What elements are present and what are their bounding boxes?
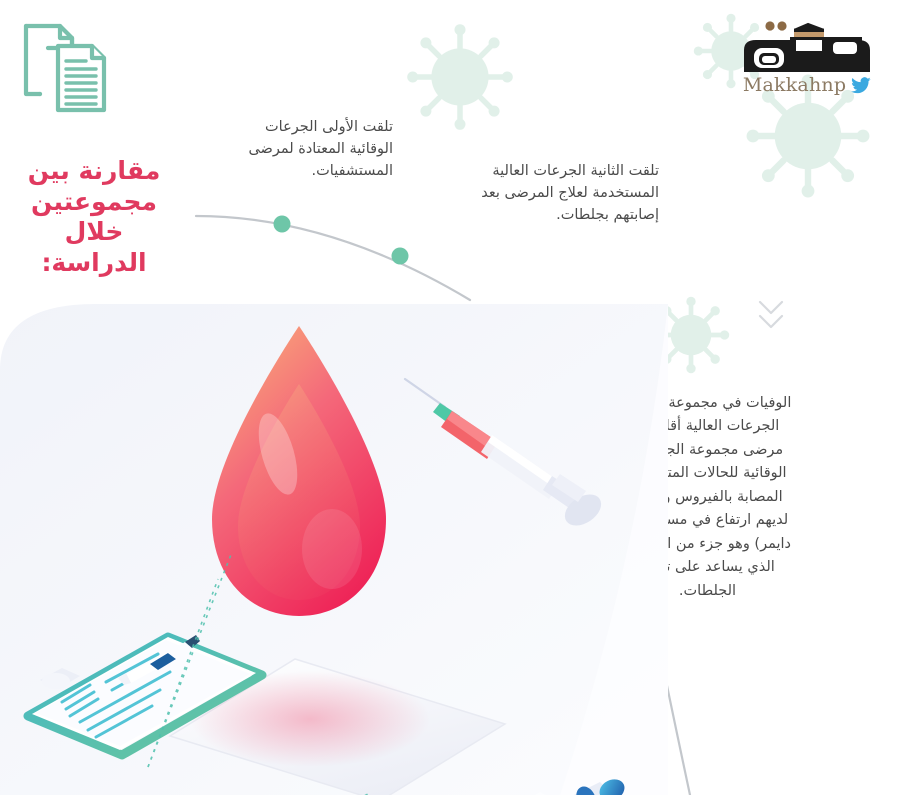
connector-curve-top: [196, 216, 470, 300]
documents-icon: [14, 18, 114, 118]
lab-research-illustration: [0, 304, 668, 795]
infographic-canvas: Makkahnp مقارنة بين مجموعتين خلال الدراس…: [0, 0, 900, 795]
note-group-one: تلقت الأولى الجرعات الوقائية المعتادة لم…: [228, 116, 393, 182]
makkah-wordmark-icon: [732, 18, 882, 80]
page-title-line-2: مجموعتين: [10, 187, 178, 218]
brand-handle[interactable]: Makkahnp: [732, 76, 882, 95]
page-title-line-3: خلال الدراسة:: [10, 217, 178, 278]
connector-dot: [392, 248, 409, 265]
brand-logo[interactable]: Makkahnp: [732, 18, 882, 95]
virus-icon: [405, 22, 515, 132]
note-group-two: تلقت الثانية الجرعات العالية المستخدمة ل…: [443, 160, 659, 226]
page-title: مقارنة بين مجموعتين خلال الدراسة:: [10, 156, 178, 278]
connector-dot: [274, 216, 291, 233]
double-chevron-down-icon: [753, 296, 789, 336]
page-title-line-1: مقارنة بين: [10, 156, 178, 187]
brand-handle-text: Makkahnp: [743, 76, 846, 95]
twitter-bird-icon: [851, 77, 871, 94]
